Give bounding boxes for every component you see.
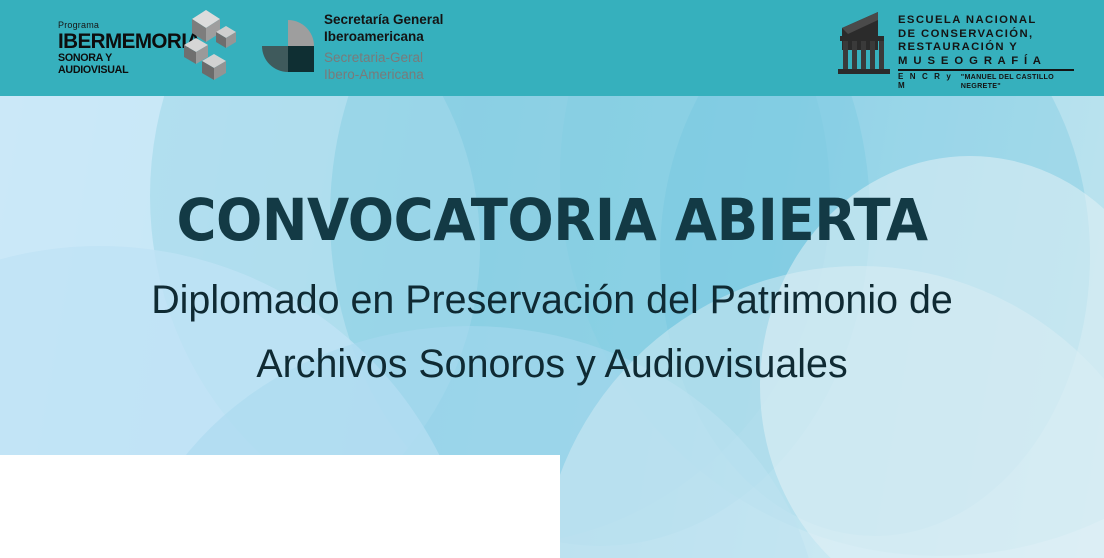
encrym-acronym: E N C R y M: [898, 72, 957, 90]
diamond-blocks-icon: [174, 8, 240, 88]
header-bar: Programa IBERMEMORIA SONORA Y AUDIOVISUA…: [0, 0, 1104, 96]
segib-line-es-2: Iberoamericana: [324, 29, 494, 46]
encrym-patron-name: "MANUEL DEL CASTILLO NEGRETE": [961, 72, 1078, 90]
segib-line-es-1: Secretaría General: [324, 12, 494, 29]
classical-building-icon: [838, 10, 894, 80]
encrym-line-1: ESCUELA NACIONAL: [898, 14, 1078, 28]
ibermemoria-logo: Programa IBERMEMORIA SONORA Y AUDIOVISUA…: [58, 10, 228, 86]
encrym-line-2: DE CONSERVACIÓN,: [898, 28, 1078, 42]
encrym-line-3: RESTAURACIÓN Y: [898, 41, 1078, 55]
hero-subtitle-line-1: Diplomado en Preservación del Patrimonio…: [8, 268, 1095, 332]
ibermemoria-name: IBERMEMORIA: [58, 30, 181, 52]
encrym-wordmark: ESCUELA NACIONAL DE CONSERVACIÓN, RESTAU…: [898, 14, 1078, 90]
ibermemoria-wordmark: Programa IBERMEMORIA SONORA Y AUDIOVISUA…: [58, 20, 186, 76]
encrym-divider: [898, 69, 1074, 71]
segib-quadrant-icon: [258, 16, 318, 76]
hero-text-block: CONVOCATORIA ABIERTA Diplomado en Preser…: [0, 190, 1104, 396]
encrym-line-4: M U S E O G R A F Í A: [898, 55, 1078, 69]
hero-subtitle-line-2: Archivos Sonoros y Audiovisuales: [8, 332, 1095, 396]
page-title: CONVOCATORIA ABIERTA: [33, 190, 1071, 250]
segib-logo: Secretaría General Iberoamericana Secret…: [258, 8, 488, 88]
sponsor-logo-bar: BIBLIOTECA NACIONAL DE ESPAÑA BNE: [0, 455, 1104, 558]
poster-canvas: Programa IBERMEMORIA SONORA Y AUDIOVISUA…: [0, 0, 1104, 558]
segib-line-pt-1: Secretaria-Geral: [324, 50, 494, 67]
segib-wordmark: Secretaría General Iberoamericana Secret…: [324, 12, 494, 83]
ibermemoria-subtitle: SONORA Y AUDIOVISUAL: [58, 52, 182, 76]
encrym-logo: ESCUELA NACIONAL DE CONSERVACIÓN, RESTAU…: [838, 8, 1078, 90]
segib-line-pt-2: Ibero-Americana: [324, 67, 494, 84]
